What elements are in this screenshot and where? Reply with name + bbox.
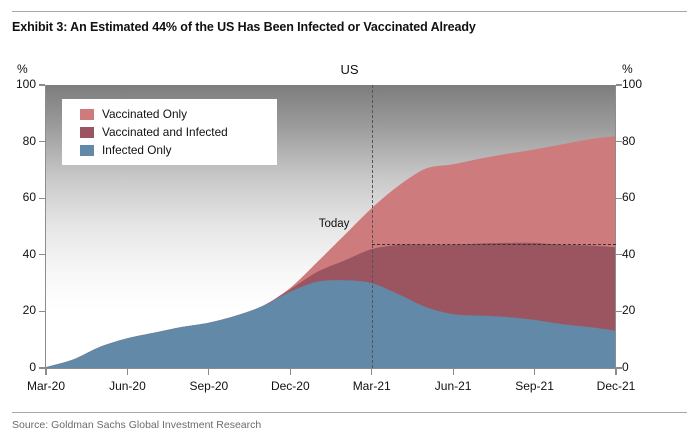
y-tick-l-20	[39, 311, 45, 312]
x-tick-label-Sep-20: Sep-20	[174, 379, 244, 393]
y-tick-label-l-80: 80	[6, 134, 36, 148]
y-tick-label-r-80: 80	[622, 134, 656, 148]
y-tick-label-l-40: 40	[6, 247, 36, 261]
x-tick-Jun-20	[127, 369, 128, 375]
legend-item-vaccinated-only: Vaccinated Only	[80, 105, 277, 123]
x-tick-Sep-20	[208, 369, 209, 375]
y-tick-label-r-40: 40	[622, 247, 656, 261]
y-tick-label-l-60: 60	[6, 190, 36, 204]
y-tick-label-l-100: 100	[6, 77, 36, 91]
x-tick-Mar-21	[371, 369, 372, 375]
y-axis-unit-left: %	[17, 62, 28, 76]
legend-swatch-icon	[80, 109, 94, 120]
x-tick-label-Mar-20: Mar-20	[11, 379, 81, 393]
y-tick-l-100	[39, 84, 45, 85]
y-axis-left	[45, 85, 46, 369]
y-tick-l-40	[39, 254, 45, 255]
x-axis	[45, 368, 617, 369]
x-tick-label-Dec-21: Dec-21	[581, 379, 651, 393]
y-axis-right	[615, 85, 616, 369]
x-tick-label-Mar-21: Mar-21	[337, 379, 407, 393]
x-tick-Dec-21	[615, 369, 616, 375]
y-tick-label-l-0: 0	[6, 360, 36, 374]
top-divider	[12, 11, 687, 12]
y-tick-l-80	[39, 141, 45, 142]
y-tick-label-r-20: 20	[622, 303, 656, 317]
chart-legend: Vaccinated Only Vaccinated and Infected …	[62, 99, 277, 165]
x-tick-Sep-21	[534, 369, 535, 375]
y-tick-label-r-0: 0	[622, 360, 656, 374]
x-tick-label-Sep-21: Sep-21	[500, 379, 570, 393]
legend-item-vaccinated-and-infected: Vaccinated and Infected	[80, 123, 277, 141]
exhibit-container: Exhibit 3: An Estimated 44% of the US Ha…	[0, 0, 699, 445]
chart-title: US	[0, 62, 699, 77]
legend-label: Vaccinated Only	[102, 109, 187, 120]
y-tick-label-l-20: 20	[6, 303, 36, 317]
x-tick-label-Jun-21: Jun-21	[418, 379, 488, 393]
legend-item-infected-only: Infected Only	[80, 141, 277, 159]
legend-label: Infected Only	[102, 145, 172, 156]
x-tick-Jun-21	[453, 369, 454, 375]
legend-swatch-icon	[80, 127, 94, 138]
today-label: Today	[319, 218, 350, 230]
today-vertical-line	[372, 85, 373, 368]
x-tick-label-Jun-20: Jun-20	[92, 379, 162, 393]
y-tick-label-r-60: 60	[622, 190, 656, 204]
legend-label: Vaccinated and Infected	[102, 127, 228, 138]
exhibit-title: Exhibit 3: An Estimated 44% of the US Ha…	[12, 20, 476, 34]
x-tick-Mar-20	[45, 369, 46, 375]
legend-swatch-icon	[80, 145, 94, 156]
y-tick-label-r-100: 100	[622, 77, 656, 91]
y-tick-l-0	[39, 367, 45, 368]
y-axis-unit-right: %	[622, 62, 633, 76]
y-tick-l-60	[39, 198, 45, 199]
source-note: Source: Goldman Sachs Global Investment …	[12, 419, 261, 431]
bottom-divider	[12, 412, 687, 413]
x-tick-label-Dec-20: Dec-20	[255, 379, 325, 393]
x-tick-Dec-20	[290, 369, 291, 375]
today-level-line	[372, 244, 616, 245]
